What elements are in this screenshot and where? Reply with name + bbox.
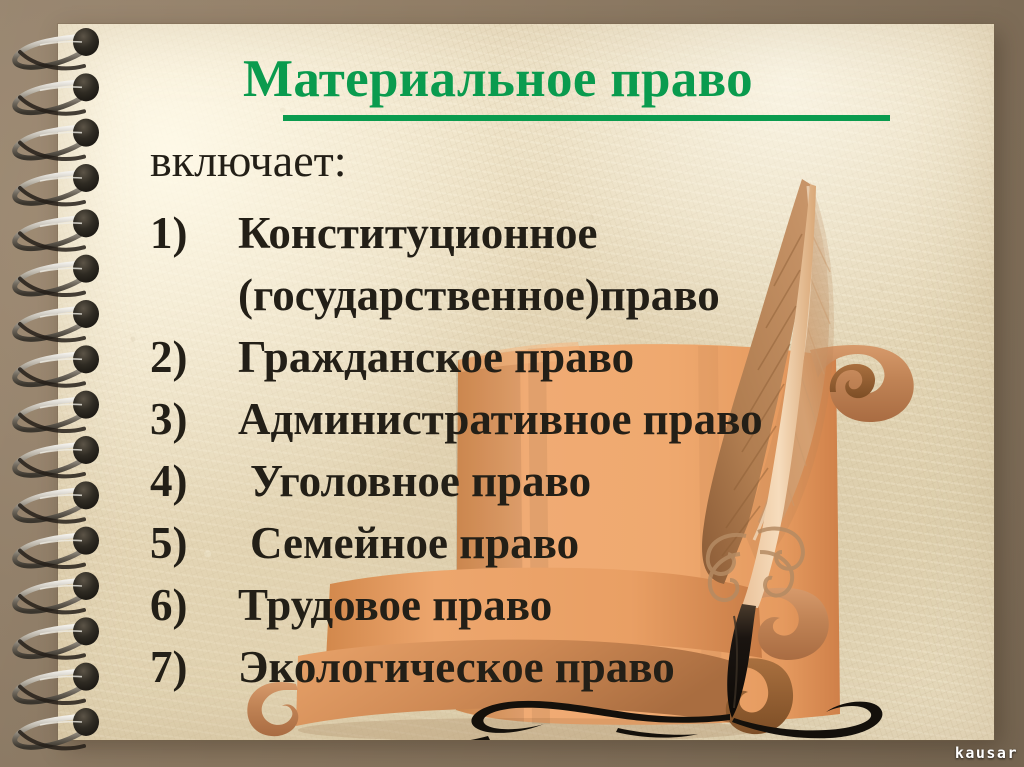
list-item: 2) Гражданское право (150, 326, 1000, 388)
list-item: 4) Уголовное право (150, 450, 1000, 512)
presentation-slide: Материальное право включает: 1) Конститу… (0, 0, 1024, 767)
list-item: 7) Экологическое право (150, 636, 1000, 698)
list-item-number: 1) (150, 202, 212, 264)
list-item-label: Административное право (238, 388, 763, 450)
list-item-number: 5) (150, 512, 212, 574)
law-branches-list: 1) Конституционное (государственное)прав… (150, 202, 1000, 698)
list-item-number: 7) (150, 636, 212, 698)
list-item: 1) Конституционное (150, 202, 1000, 264)
list-item-label: Семейное право (250, 512, 579, 574)
title-underline (283, 115, 890, 121)
list-item-number: 6) (150, 574, 212, 636)
list-item-label: Конституционное (238, 202, 598, 264)
lead-text: включает: (150, 136, 347, 186)
page-title: Материальное право (58, 50, 938, 108)
list-item-number: 3) (150, 388, 212, 450)
slide-content: Материальное право включает: 1) Конститу… (58, 24, 994, 740)
list-item: 3) Административное право (150, 388, 1000, 450)
list-item: 5) Семейное право (150, 512, 1000, 574)
list-item-number: 2) (150, 326, 212, 388)
watermark-label: kausar (955, 744, 1018, 762)
list-item-number: 4) (150, 450, 212, 512)
list-item-label: Трудовое право (238, 574, 552, 636)
list-item-label: Экологическое право (238, 636, 675, 698)
list-item-continuation: (государственное)право (150, 264, 1000, 326)
list-item-label: Гражданское право (238, 326, 634, 388)
list-item-label: (государственное)право (238, 264, 720, 326)
list-item: 6) Трудовое право (150, 574, 1000, 636)
list-item-label: Уголовное право (250, 450, 591, 512)
